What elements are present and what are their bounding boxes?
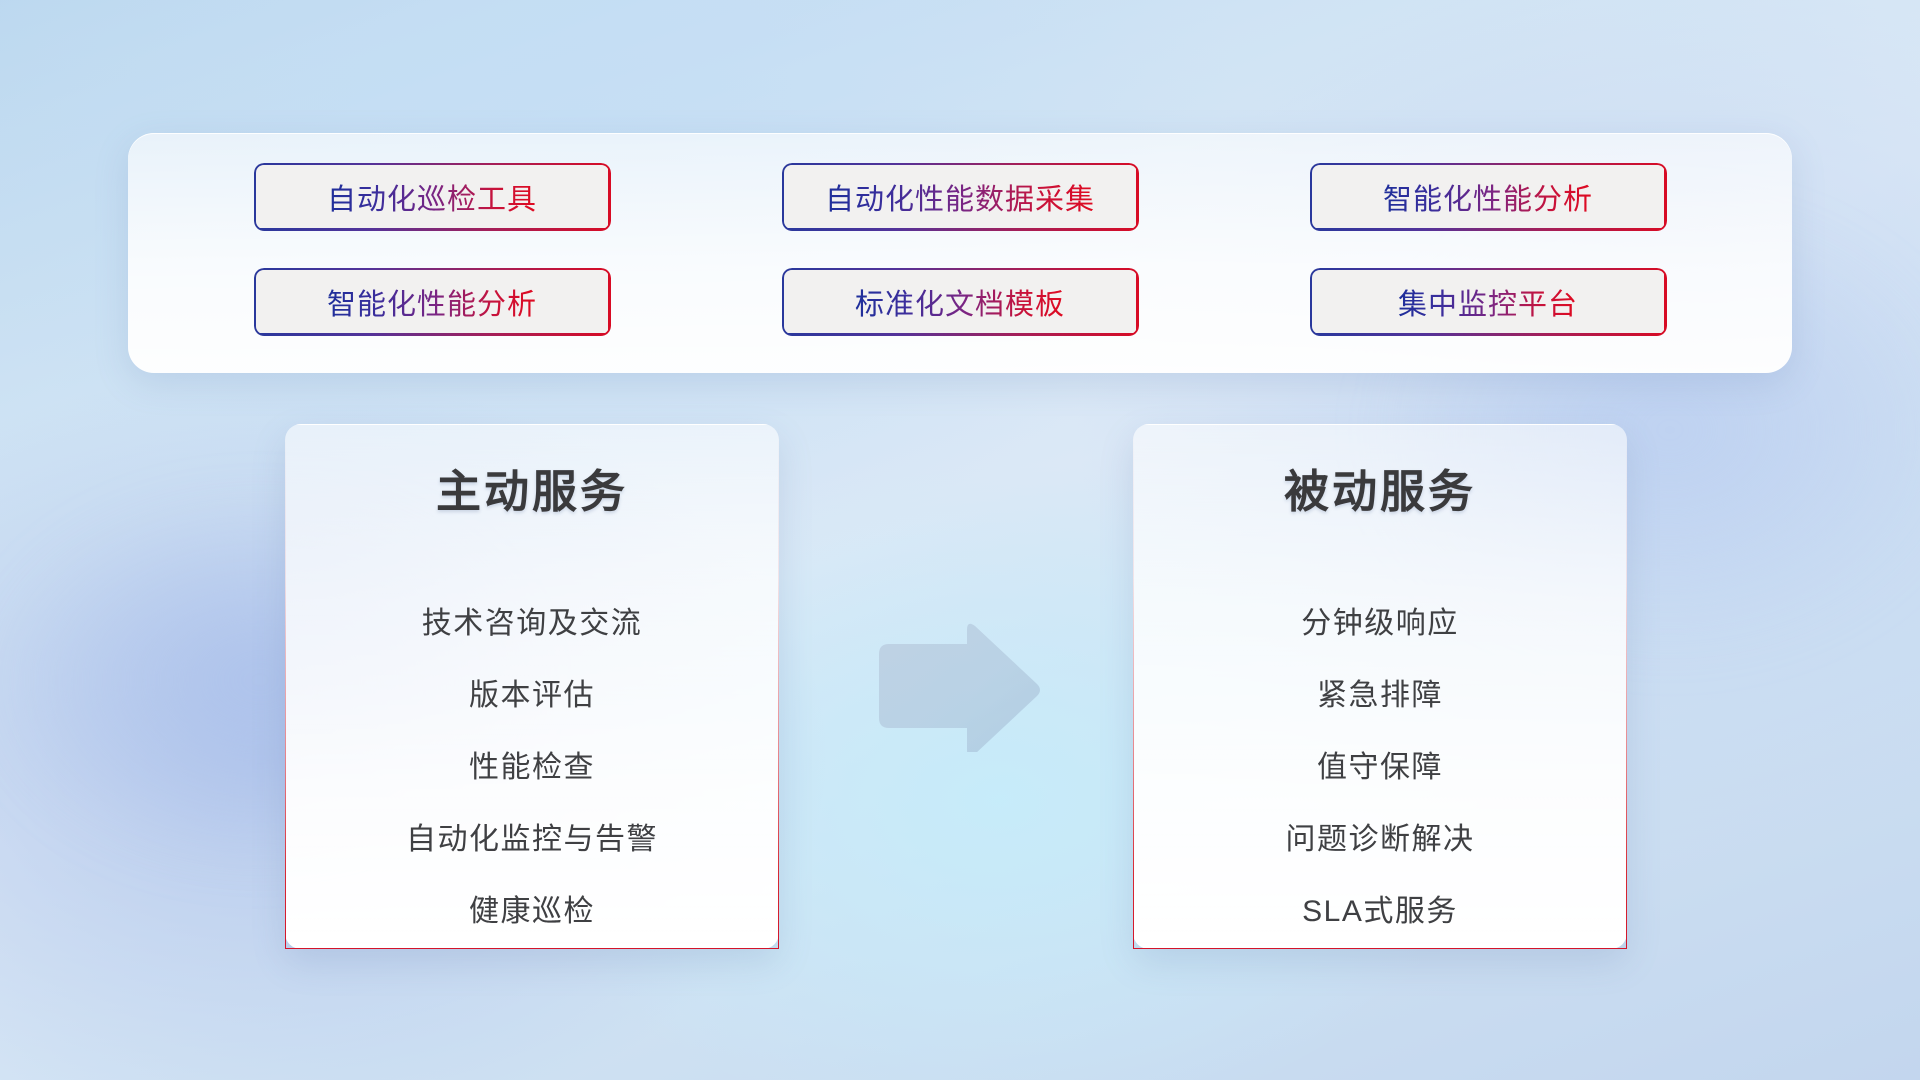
service-card-proactive[interactable]: 主动服务 技术咨询及交流 版本评估 性能检查 自动化监控与告警 健康巡检 xyxy=(285,424,779,949)
arrow-right-icon xyxy=(873,620,1043,752)
service-list-item: 自动化监控与告警 xyxy=(406,804,658,876)
service-list-item: 健康巡检 xyxy=(469,876,595,948)
capability-pill-4[interactable]: 智能化性能分析 xyxy=(254,268,611,336)
capability-pills-grid: 自动化巡检工具 自动化性能数据采集 智能化性能分析 智能化性能分析 标准化文档模… xyxy=(128,133,1792,373)
service-item-list: 分钟级响应 紧急排障 值守保障 问题诊断解决 SLA式服务 xyxy=(1134,588,1626,948)
service-card-title: 主动服务 xyxy=(436,455,628,520)
capability-pill-2[interactable]: 自动化性能数据采集 xyxy=(782,163,1139,231)
capability-pill-label: 自动化性能数据采集 xyxy=(825,176,1095,218)
service-card-inner: 被动服务 分钟级响应 紧急排障 值守保障 问题诊断解决 SLA式服务 xyxy=(1134,425,1626,948)
service-item-list: 技术咨询及交流 版本评估 性能检查 自动化监控与告警 健康巡检 xyxy=(286,588,778,948)
service-list-item: 性能检查 xyxy=(469,732,595,804)
capability-pill-label: 集中监控平台 xyxy=(1398,281,1578,323)
capability-pill-label: 标准化文档模板 xyxy=(855,281,1065,323)
capability-pill-6[interactable]: 集中监控平台 xyxy=(1310,268,1667,336)
capability-pill-label: 智能化性能分析 xyxy=(327,281,537,323)
service-list-item: 紧急排障 xyxy=(1317,660,1443,732)
service-card-reactive[interactable]: 被动服务 分钟级响应 紧急排障 值守保障 问题诊断解决 SLA式服务 xyxy=(1133,424,1627,949)
service-list-item: 分钟级响应 xyxy=(1301,588,1459,660)
capability-pill-label: 自动化巡检工具 xyxy=(327,176,537,218)
service-card-title: 被动服务 xyxy=(1284,455,1476,520)
service-list-item: 技术咨询及交流 xyxy=(422,588,643,660)
service-list-item: SLA式服务 xyxy=(1302,876,1458,948)
capability-pill-3[interactable]: 智能化性能分析 xyxy=(1310,163,1667,231)
capability-pill-label: 智能化性能分析 xyxy=(1383,176,1593,218)
slide-canvas: 自动化巡检工具 自动化性能数据采集 智能化性能分析 智能化性能分析 标准化文档模… xyxy=(0,0,1920,1080)
service-list-item: 问题诊断解决 xyxy=(1286,804,1475,876)
service-list-item: 值守保障 xyxy=(1317,732,1443,804)
capability-pills-panel: 自动化巡检工具 自动化性能数据采集 智能化性能分析 智能化性能分析 标准化文档模… xyxy=(128,133,1792,373)
service-card-inner: 主动服务 技术咨询及交流 版本评估 性能检查 自动化监控与告警 健康巡检 xyxy=(286,425,778,948)
capability-pill-5[interactable]: 标准化文档模板 xyxy=(782,268,1139,336)
capability-pill-1[interactable]: 自动化巡检工具 xyxy=(254,163,611,231)
service-list-item: 版本评估 xyxy=(469,660,595,732)
